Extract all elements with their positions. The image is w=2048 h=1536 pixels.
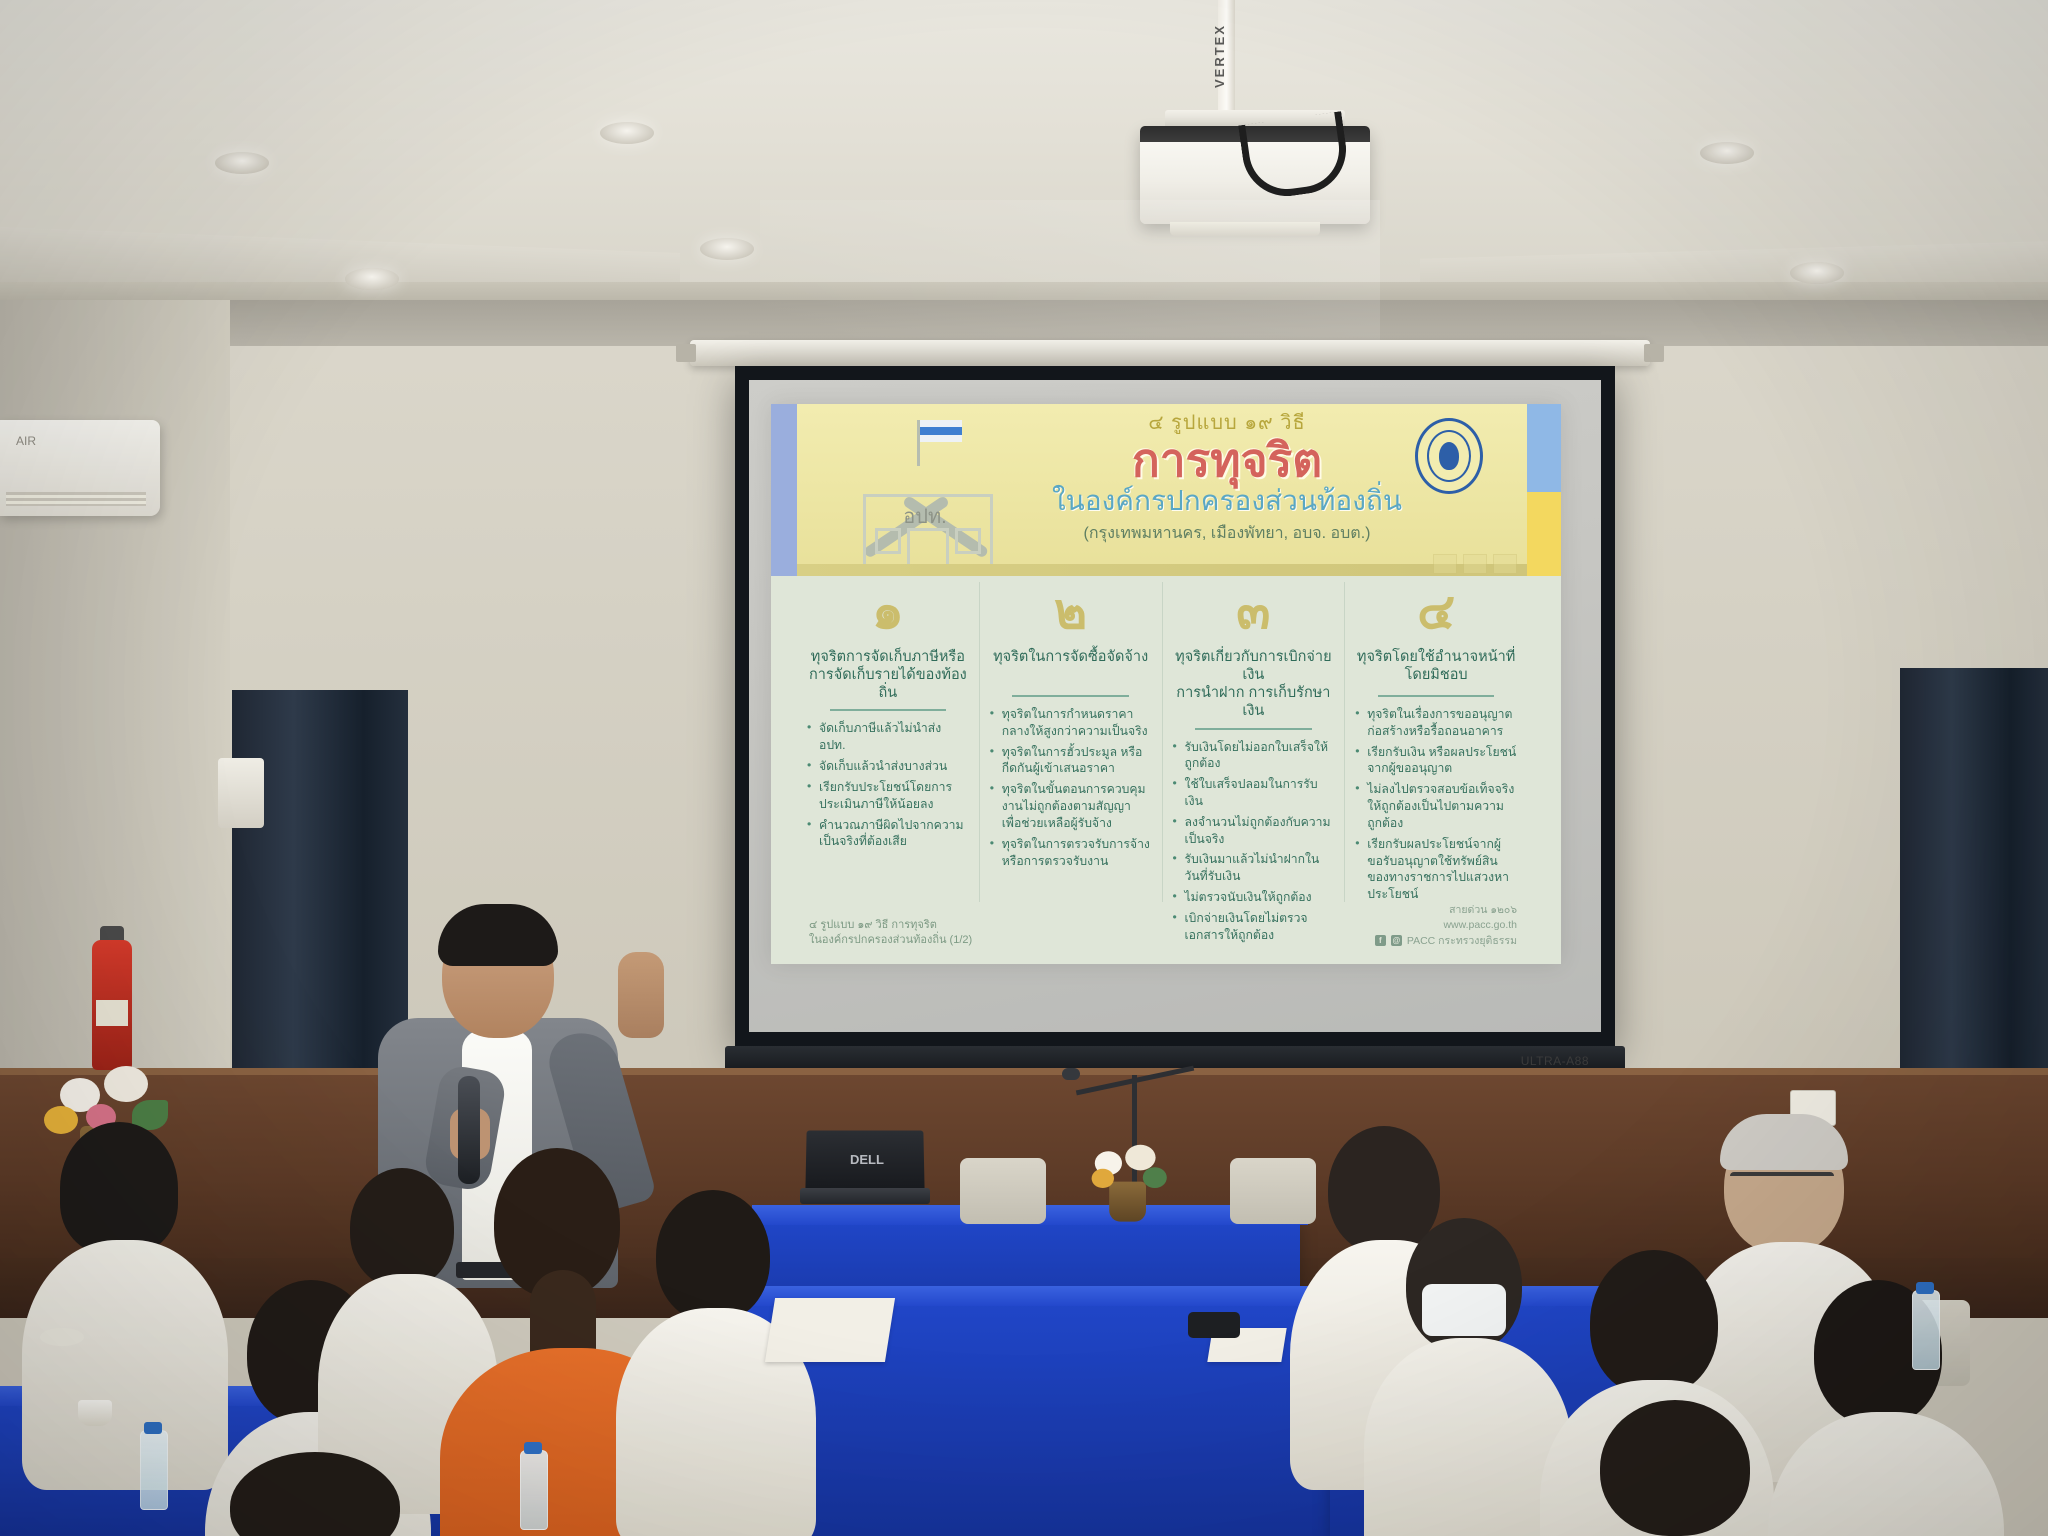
coffee-cup bbox=[78, 1400, 112, 1426]
column-numeral: ๒ bbox=[990, 586, 1152, 648]
air-conditioner: AIR bbox=[0, 420, 160, 516]
mini-building-3 bbox=[1493, 554, 1517, 574]
microphone-head-icon bbox=[1062, 1068, 1080, 1080]
bullet-item: ทุจริตในการกำหนดราคากลางให้สูงกว่าความเป… bbox=[990, 706, 1152, 740]
column-rule bbox=[1195, 728, 1311, 730]
bottle-cap-1 bbox=[144, 1422, 162, 1434]
audience-head bbox=[1328, 1126, 1440, 1254]
column-numeral: ๓ bbox=[1173, 586, 1335, 648]
slide-subtitle: ในองค์กรปกครองส่วนท้องถิ่น bbox=[1037, 486, 1417, 517]
slide-accent-right-blue bbox=[1527, 404, 1561, 492]
chair-1 bbox=[960, 1158, 1046, 1224]
slide-accent-right-yellow bbox=[1527, 492, 1561, 576]
audience-head bbox=[1590, 1250, 1718, 1396]
house-label: อปท. bbox=[885, 500, 965, 532]
slide-hotline: สายด่วน ๑๒๐๖ bbox=[1375, 903, 1517, 917]
screen-roller-housing bbox=[690, 340, 1650, 366]
slide-footer-left: ๔ รูปแบบ ๑๙ วิธี การทุจริต ในองค์กรปกครอ… bbox=[809, 918, 972, 948]
downlight-1 bbox=[215, 152, 269, 174]
projection-screen: อปท. ๔ รูปแบบ ๑๙ วิธี การทุจริต ในองค์กร… bbox=[735, 366, 1615, 1046]
bullet-item: รับเงินโดยไม่ออกใบเสร็จให้ถูกต้อง bbox=[1173, 739, 1335, 773]
curtain-right bbox=[1900, 668, 2048, 1080]
slide-subnote: (กรุงเทพมหานคร, เมืองพัทยา, อบจ. อบต.) bbox=[1037, 521, 1417, 546]
flower-2 bbox=[104, 1066, 148, 1102]
screen-code-label: ULTRA-A88 bbox=[1521, 1054, 1589, 1068]
flower-3 bbox=[44, 1106, 78, 1134]
table-vase bbox=[1109, 1182, 1146, 1222]
bullet-item: ไม่ลงไปตรวจสอบข้อเท็จจริงให้ถูกต้องเป็นไ… bbox=[1355, 781, 1517, 831]
slide-columns: ๑ทุจริตการจัดเก็บภาษีหรือการจัดเก็บรายได… bbox=[797, 582, 1527, 902]
bullet-item: เรียกรับผลประโยชน์จากผู้ขอรับอนุญาตใช้ทร… bbox=[1355, 836, 1517, 903]
column-heading: ทุจริตในการจัดซื้อจัดจ้าง bbox=[990, 648, 1152, 688]
slide-social-text: PACC กระทรวงยุติธรรม bbox=[1407, 934, 1517, 948]
column-rule bbox=[830, 709, 946, 711]
mini-building-2 bbox=[1463, 554, 1487, 574]
column-bullet-list: ทุจริตในเรื่องการขออนุญาตก่อสร้างหรือรื้… bbox=[1355, 706, 1517, 903]
downlight-5 bbox=[1790, 262, 1844, 284]
slide-footer-left-line1: ๔ รูปแบบ ๑๙ วิธี การทุจริต bbox=[809, 918, 972, 933]
column-heading: ทุจริตเกี่ยวกับการเบิกจ่ายเงินการนำฝาก ก… bbox=[1173, 648, 1335, 721]
laptop-keyboard bbox=[800, 1188, 930, 1204]
screen-rail-end-left bbox=[676, 344, 696, 362]
fire-extinguisher-tag bbox=[96, 1000, 128, 1026]
bottle-cap-3 bbox=[1916, 1282, 1934, 1294]
face-mask-icon bbox=[1422, 1284, 1506, 1336]
screen-surface: อปท. ๔ รูปแบบ ๑๙ วิธี การทุจริต ในองค์กร… bbox=[749, 380, 1601, 1032]
water-bottle-3 bbox=[1912, 1290, 1940, 1370]
seal-emblem bbox=[1439, 442, 1459, 470]
projector-mount-brand: VERTEX bbox=[1212, 8, 1242, 88]
slide-social-row: f @ PACC กระทรวงยุติธรรม bbox=[1375, 934, 1517, 948]
facebook-icon: f bbox=[1375, 935, 1386, 946]
audience-body bbox=[22, 1240, 228, 1490]
column-rule bbox=[1378, 695, 1494, 697]
slide-header-strip bbox=[797, 564, 1527, 576]
slide-footer-left-line2: ในองค์กรปกครองส่วนท้องถิ่น (1/2) bbox=[809, 933, 972, 948]
bullet-item: ทุจริตในการตรวจรับการจ้างหรือการตรวจรับง… bbox=[990, 836, 1152, 870]
table-flower-3 bbox=[1092, 1169, 1114, 1188]
slide-column-2: ๒ทุจริตในการจัดซื้อจัดจ้างทุจริตในการกำห… bbox=[979, 582, 1162, 902]
wall-speaker bbox=[218, 758, 264, 828]
bullet-item: ทุจริตในเรื่องการขออนุญาตก่อสร้างหรือรื้… bbox=[1355, 706, 1517, 740]
downlight-6 bbox=[345, 268, 399, 290]
slide-kicker: ๔ รูปแบบ ๑๙ วิธี bbox=[1037, 412, 1417, 434]
slide-building-icons bbox=[1433, 554, 1517, 574]
town-hall-illustration: อปท. bbox=[833, 418, 1013, 570]
bullet-item: เรียกรับเงิน หรือผลประโยชน์จากผู้ขออนุญา… bbox=[1355, 744, 1517, 778]
audience-head bbox=[60, 1122, 178, 1254]
downlight-4 bbox=[1700, 142, 1754, 164]
audience-head bbox=[350, 1168, 454, 1288]
slide-column-1: ๑ทุจริตการจัดเก็บภาษีหรือการจัดเก็บรายได… bbox=[797, 582, 979, 902]
projector-foot bbox=[1170, 222, 1320, 236]
smartphone bbox=[1188, 1312, 1240, 1338]
column-rule bbox=[1012, 695, 1128, 697]
audience-gray-hair bbox=[1720, 1114, 1848, 1170]
slide-title: การทุจริต bbox=[1037, 436, 1417, 484]
audience-head bbox=[1600, 1400, 1750, 1536]
conference-room-photo: AIR VERTEX bbox=[0, 0, 2048, 1536]
thai-flag-icon bbox=[920, 420, 962, 442]
handheld-microphone bbox=[458, 1076, 480, 1184]
instagram-icon: @ bbox=[1391, 935, 1402, 946]
water-bottle-1 bbox=[140, 1430, 168, 1510]
mini-building-1 bbox=[1433, 554, 1457, 574]
slide-website: www.pacc.go.th bbox=[1375, 918, 1517, 932]
downlight-2 bbox=[600, 122, 654, 144]
bullet-item: เบิกจ่ายเงินโดยไม่ตรวจเอกสารให้ถูกต้อง bbox=[1173, 910, 1335, 944]
slide-title-block: ๔ รูปแบบ ๑๙ วิธี การทุจริต ในองค์กรปกครอ… bbox=[1037, 412, 1417, 546]
bullet-item: ลงจำนวนไม่ถูกต้องกับความเป็นจริง bbox=[1173, 814, 1335, 848]
chair-2 bbox=[1230, 1158, 1316, 1224]
column-bullet-list: รับเงินโดยไม่ออกใบเสร็จให้ถูกต้องใช้ใบเส… bbox=[1173, 739, 1335, 944]
slide-column-3: ๓ทุจริตเกี่ยวกับการเบิกจ่ายเงินการนำฝาก … bbox=[1162, 582, 1345, 902]
eyeglasses-icon bbox=[1730, 1172, 1834, 1196]
bullet-item: ทุจริตในการฮั้วประมูล หรือกีดกันผู้เข้าเ… bbox=[990, 744, 1152, 778]
bullet-item: คำนวณภาษีผิดไปจากความเป็นจริงที่ต้องเสีย bbox=[807, 817, 969, 851]
presenter-hair bbox=[438, 904, 558, 966]
bullet-item: จัดเก็บภาษีแล้วไม่นำส่ง อปท. bbox=[807, 720, 969, 754]
bullet-item: ทุจริตในขั้นตอนการควบคุมงานไม่ถูกต้องตาม… bbox=[990, 781, 1152, 831]
downlight-3 bbox=[700, 238, 754, 260]
laptop-screen: DELL bbox=[805, 1130, 924, 1192]
bullet-item: จัดเก็บแล้วนำส่งบางส่วน bbox=[807, 758, 969, 775]
ac-label: AIR bbox=[16, 434, 36, 448]
bullet-item: ใช้ใบเสร็จปลอมในการรับเงิน bbox=[1173, 776, 1335, 810]
bullet-item: ไม่ตรวจนับเงินให้ถูกต้อง bbox=[1173, 889, 1335, 906]
presentation-slide: อปท. ๔ รูปแบบ ๑๙ วิธี การทุจริต ในองค์กร… bbox=[771, 404, 1561, 964]
teacup-saucer bbox=[40, 1328, 84, 1346]
laptop-brand: DELL bbox=[850, 1152, 884, 1167]
audience-head bbox=[656, 1190, 770, 1322]
paper-sheet-1 bbox=[765, 1298, 895, 1362]
column-bullet-list: ทุจริตในการกำหนดราคากลางให้สูงกว่าความเป… bbox=[990, 706, 1152, 869]
bullet-item: รับเงินมาแล้วไม่นำฝากในวันที่รับเงิน bbox=[1173, 851, 1335, 885]
column-bullet-list: จัดเก็บภาษีแล้วไม่นำส่ง อปท.จัดเก็บแล้วน… bbox=[807, 720, 969, 850]
presenter-hand-pointing bbox=[618, 952, 664, 1038]
official-seal-icon bbox=[1415, 418, 1483, 494]
bottle-cap-2 bbox=[524, 1442, 542, 1454]
bullet-item: เรียกรับประโยชน์โดยการประเมินภาษีให้น้อย… bbox=[807, 779, 969, 813]
table-flower-4 bbox=[1143, 1167, 1167, 1188]
slide-accent-left bbox=[771, 404, 797, 576]
slide-header: อปท. ๔ รูปแบบ ๑๙ วิธี การทุจริต ในองค์กร… bbox=[797, 404, 1527, 576]
screen-rail-end-right bbox=[1644, 344, 1664, 362]
flower-arrangement-table bbox=[1074, 1140, 1186, 1220]
column-heading: ทุจริตการจัดเก็บภาษีหรือการจัดเก็บรายได้… bbox=[807, 648, 969, 702]
slide-footer-right: สายด่วน ๑๒๐๖ www.pacc.go.th f @ PACC กระ… bbox=[1375, 903, 1517, 948]
column-numeral: ๑ bbox=[807, 586, 969, 648]
slide-column-4: ๔ทุจริตโดยใช้อำนาจหน้าที่โดยมิชอบทุจริตใ… bbox=[1344, 582, 1527, 902]
column-numeral: ๔ bbox=[1355, 586, 1517, 648]
ac-vent bbox=[6, 492, 146, 506]
water-bottle-2 bbox=[520, 1450, 548, 1530]
column-heading: ทุจริตโดยใช้อำนาจหน้าที่โดยมิชอบ bbox=[1355, 648, 1517, 688]
